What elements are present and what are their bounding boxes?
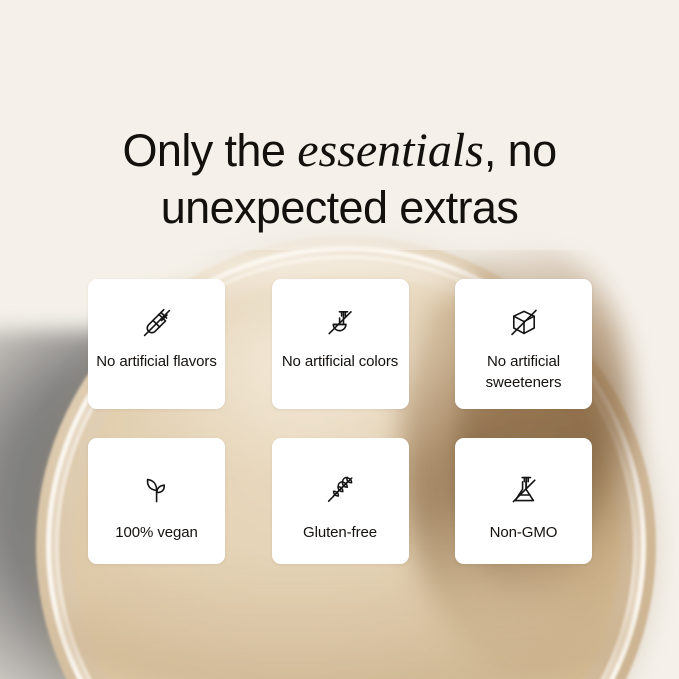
flask-slashed-icon [502, 468, 546, 512]
badge-card-vegan: 100% vegan [88, 438, 225, 564]
badge-card-no-artificial-sweeteners: No artificial sweeteners [455, 279, 592, 409]
sprout-icon [135, 468, 179, 512]
badge-card-non-gmo: Non-GMO [455, 438, 592, 564]
test-tube-slashed-icon [135, 301, 179, 345]
headline-part-1: Only the [122, 125, 297, 176]
badge-label: No artificial flavors [88, 351, 224, 372]
badge-card-no-artificial-flavors: No artificial flavors [88, 279, 225, 409]
badge-label: Non-GMO [482, 522, 566, 543]
badge-label: No artificial sweeteners [455, 351, 592, 393]
badge-row-top: No artificial flavors No a [88, 279, 592, 409]
sugar-cube-slashed-icon [502, 301, 546, 345]
badge-label: No artificial colors [274, 351, 406, 372]
headline-emphasis: essentials [297, 124, 484, 177]
page-title: Only the essentials, no unexpected extra… [0, 122, 679, 236]
promotional-graphic: Only the essentials, no unexpected extra… [0, 0, 679, 679]
paint-swatch-slashed-icon [318, 301, 362, 345]
badge-label: 100% vegan [107, 522, 205, 543]
badge-card-gluten-free: Gluten-free [272, 438, 409, 564]
badge-row-bottom: 100% vegan Gluten-free [88, 438, 592, 564]
badge-label: Gluten-free [295, 522, 385, 543]
badge-grid: No artificial flavors No a [88, 279, 592, 564]
badge-card-no-artificial-colors: No artificial colors [272, 279, 409, 409]
wheat-slashed-icon [318, 468, 362, 512]
